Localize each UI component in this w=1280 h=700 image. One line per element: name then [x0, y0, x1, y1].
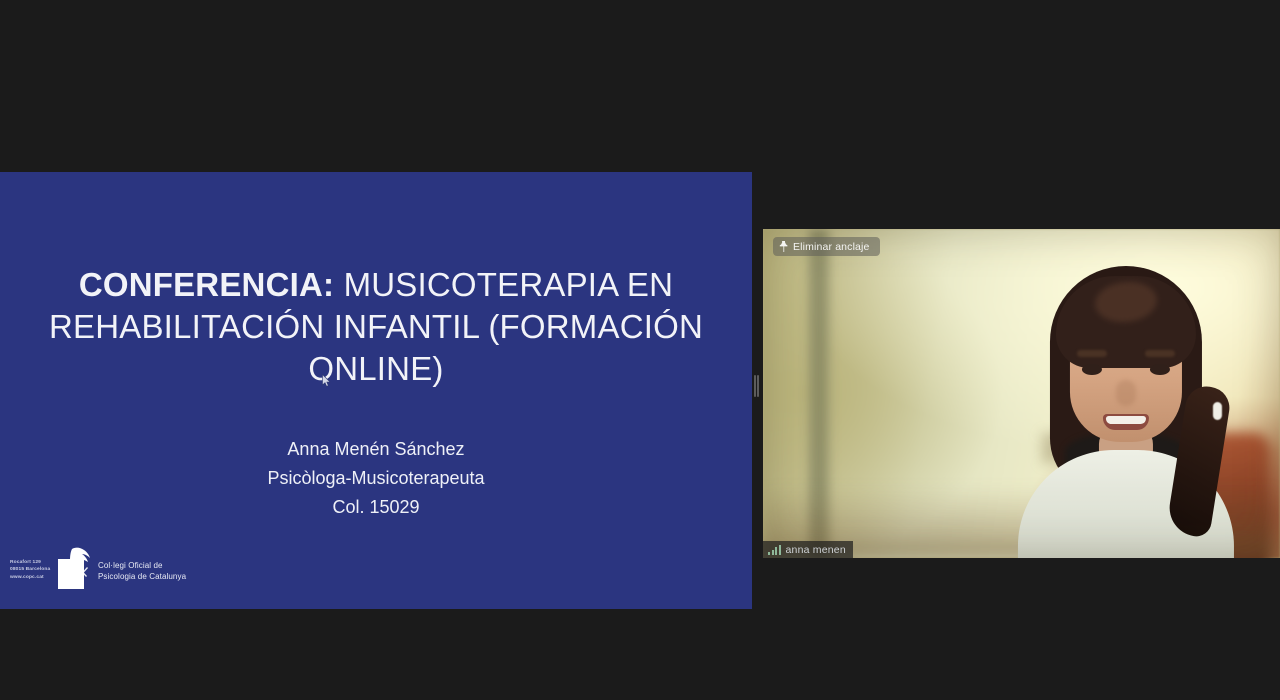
person-eyebrow-right: [1144, 350, 1174, 357]
person-eye-left: [1081, 364, 1101, 375]
shared-slide[interactable]: CONFERENCIA: MUSICOTERAPIA EN REHABILITA…: [0, 172, 752, 609]
logo-figure-icon: [66, 547, 94, 583]
person-eyebrow-left: [1076, 350, 1106, 357]
participant-person: [1012, 254, 1238, 558]
copc-logo: Rocafort 129 08015 Barcelona www.copc.ca…: [8, 543, 194, 595]
participant-video-tile[interactable]: Eliminar anclaje anna menen: [763, 229, 1280, 558]
resize-handle-bar: [754, 375, 756, 397]
person-teeth: [1105, 416, 1145, 424]
audio-bar: [775, 547, 777, 555]
audio-bar: [779, 545, 781, 555]
person-earring: [1212, 402, 1221, 420]
unpin-button-label: Eliminar anclaje: [793, 241, 870, 253]
logo-address-line-1: Rocafort 129: [10, 559, 64, 566]
logo-address-line-2: 08015 Barcelona: [10, 566, 64, 573]
person-nose: [1115, 380, 1135, 406]
participant-name-badge: anna menen: [763, 541, 853, 558]
mouse-cursor: [322, 374, 331, 387]
logo-name-line-1: Col·legi Oficial de: [98, 561, 186, 572]
presenter-role: Psicòloga-Musicoterapeuta: [0, 464, 752, 493]
presenter-name: Anna Menén Sánchez: [0, 435, 752, 464]
resize-handle-bar: [757, 375, 759, 397]
meeting-screen-share-view: CONFERENCIA: MUSICOTERAPIA EN REHABILITA…: [0, 0, 1280, 700]
logo-text: Col·legi Oficial de Psicologia de Catalu…: [98, 561, 186, 582]
logo-address: Rocafort 129 08015 Barcelona www.copc.ca…: [10, 559, 64, 581]
presenter-license: Col. 15029: [0, 493, 752, 522]
slide-title: CONFERENCIA: MUSICOTERAPIA EN REHABILITA…: [0, 264, 752, 390]
participant-name-label: anna menen: [786, 544, 846, 556]
audio-bar: [772, 550, 774, 555]
logo-address-line-3: www.copc.cat: [10, 574, 64, 581]
person-eye-right: [1149, 364, 1169, 375]
audio-level-bars-icon: [768, 545, 781, 555]
logo-name-line-2: Psicologia de Catalunya: [98, 572, 186, 583]
person-mouth: [1102, 414, 1148, 430]
resize-handle[interactable]: [753, 375, 760, 397]
slide-title-prefix: CONFERENCIA:: [79, 266, 334, 303]
audio-bar: [768, 552, 770, 555]
pin-icon: [779, 241, 788, 252]
logo-mark-icon: [58, 547, 92, 589]
unpin-button[interactable]: Eliminar anclaje: [773, 237, 880, 256]
slide-subtitle: Anna Menén Sánchez Psicòloga-Musicoterap…: [0, 435, 752, 522]
